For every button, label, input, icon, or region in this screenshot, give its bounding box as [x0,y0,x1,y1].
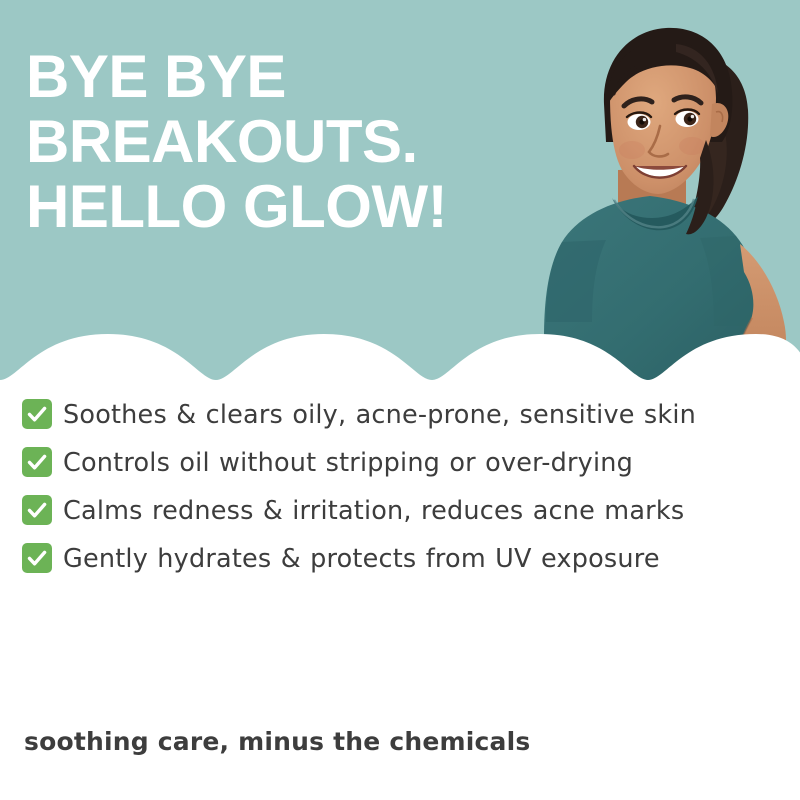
benefit-text-wrap: Calms redness & irritation, reduces acne… [22,496,684,526]
list-item: Gently hydrates & protects from UV expos… [0,536,800,583]
benefit-text-wrap: Controls oil without stripping or over-d… [22,448,633,478]
list-item: Soothes & clears oily, acne-prone, sensi… [0,392,800,439]
benefit-text-wrap: Gently hydrates & protects from UV expos… [22,544,660,574]
benefits-list: Soothes & clears oily, acne-prone, sensi… [0,392,800,584]
tagline: soothing care, minus the chemicals [24,727,530,756]
check-square-icon [22,495,52,525]
benefit-label: Soothes & clears oily, acne-prone, sensi… [63,400,696,430]
benefit-label: Gently hydrates & protects from UV expos… [63,544,660,574]
benefit-text-wrap: Soothes & clears oily, acne-prone, sensi… [22,400,696,430]
check-square-icon [22,399,52,429]
promo-banner: BYE BYE BREAKOUTS. HELLO GLOW! Soothes &… [0,0,800,800]
list-item: Controls oil without stripping or over-d… [0,440,800,487]
benefit-label: Controls oil without stripping or over-d… [63,448,633,478]
check-square-icon [22,543,52,573]
check-square-icon [22,447,52,477]
list-item: Calms redness & irritation, reduces acne… [0,488,800,535]
model-photo [500,0,800,390]
benefit-label: Calms redness & irritation, reduces acne… [63,496,684,526]
